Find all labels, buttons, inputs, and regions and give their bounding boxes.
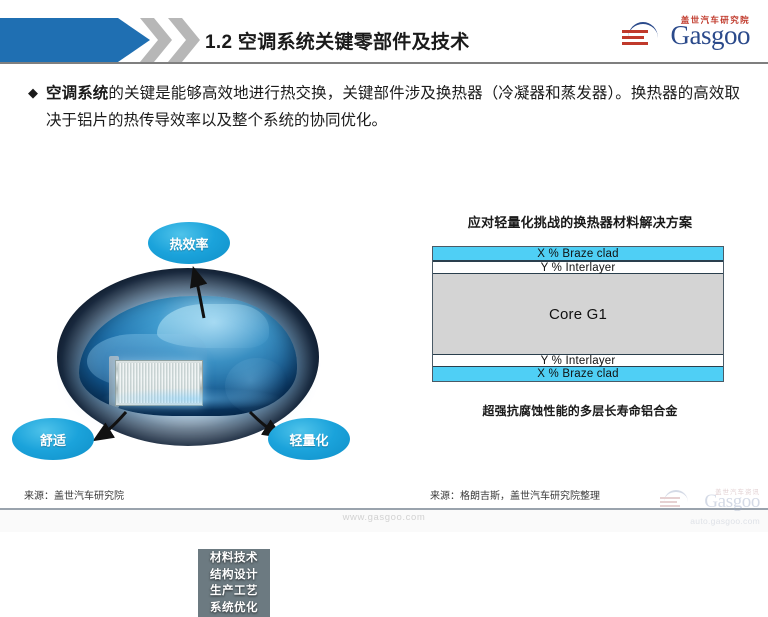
overlay-line-4: 系统优化 — [210, 600, 258, 617]
layer-interlayer-bottom: Y % Interlayer — [433, 354, 723, 367]
car-underglow — [101, 388, 281, 410]
right-figure-title: 应对轻量化挑战的换热器材料解决方案 — [430, 212, 730, 231]
logo-bars-icon — [622, 30, 648, 49]
source-left: 来源：盖世汽车研究院 — [24, 487, 124, 502]
diamond-bullet-icon: ◆ — [28, 80, 38, 106]
overlay-line-3: 生产工艺 — [210, 583, 258, 600]
slide-canvas: 1.2 空调系统关键零部件及技术 盖世汽车研究院 Gasgoo ◆ 空调系统的关… — [0, 0, 768, 532]
page-title: 1.2 空调系统关键零部件及技术 — [205, 27, 470, 54]
header-arrow-shape — [0, 18, 150, 62]
layer-braze-clad-bottom: X % Braze clad — [433, 367, 723, 381]
layer-braze-clad-top: X % Braze clad — [433, 247, 723, 261]
watermark-wordmark: Gasgoo — [704, 492, 760, 511]
source-right: 来源：格朗吉斯，盖世汽车研究院整理 — [430, 487, 600, 502]
right-figure: 应对轻量化挑战的换热器材料解决方案 X % Braze clad Y % Int… — [430, 212, 730, 464]
technology-overlay-box: 材料技术 结构设计 生产工艺 系统优化 — [198, 549, 270, 617]
logo-wordmark: Gasgoo — [671, 22, 751, 49]
gasgoo-logo: 盖世汽车研究院 Gasgoo — [622, 14, 750, 58]
bullet-paragraph-block: ◆ 空调系统的关键是能够高效地进行热交换，关键部件涉及换热器（冷凝器和蒸发器）。… — [28, 80, 740, 134]
header-chevron-2-icon — [168, 18, 200, 62]
footer-url-watermark: www.gasgoo.com — [0, 512, 768, 523]
overlay-line-2: 结构设计 — [210, 567, 258, 584]
car-illustration — [63, 282, 313, 432]
bullet-body-text: 的关键是能够高效地进行热交换，关键部件涉及换热器（冷凝器和蒸发器）。换热器的高效… — [46, 85, 740, 129]
layer-interlayer-top: Y % Interlayer — [433, 261, 723, 274]
bullet-keyword: 空调系统 — [46, 85, 108, 102]
watermark-url: auto.gasgoo.com — [690, 516, 760, 526]
ellipse-lightweight: 轻量化 — [268, 418, 350, 460]
bullet-paragraph: 空调系统的关键是能够高效地进行热交换，关键部件涉及换热器（冷凝器和蒸发器）。换热… — [46, 80, 740, 134]
layer-core: Core G1 — [433, 274, 723, 354]
right-figure-caption: 超强抗腐蚀性能的多层长寿命铝合金 — [430, 402, 730, 419]
material-layer-stack: X % Braze clad Y % Interlayer Core G1 Y … — [432, 246, 724, 382]
overlay-line-1: 材料技术 — [210, 550, 258, 567]
ellipse-thermal-efficiency: 热效率 — [148, 222, 230, 264]
ellipse-comfort: 舒适 — [12, 418, 94, 460]
watermark-bars-icon — [660, 497, 680, 511]
footer-gasgoo-watermark: 盖世汽车资讯 Gasgoo auto.gasgoo.com — [658, 486, 762, 530]
header-divider — [0, 62, 768, 64]
